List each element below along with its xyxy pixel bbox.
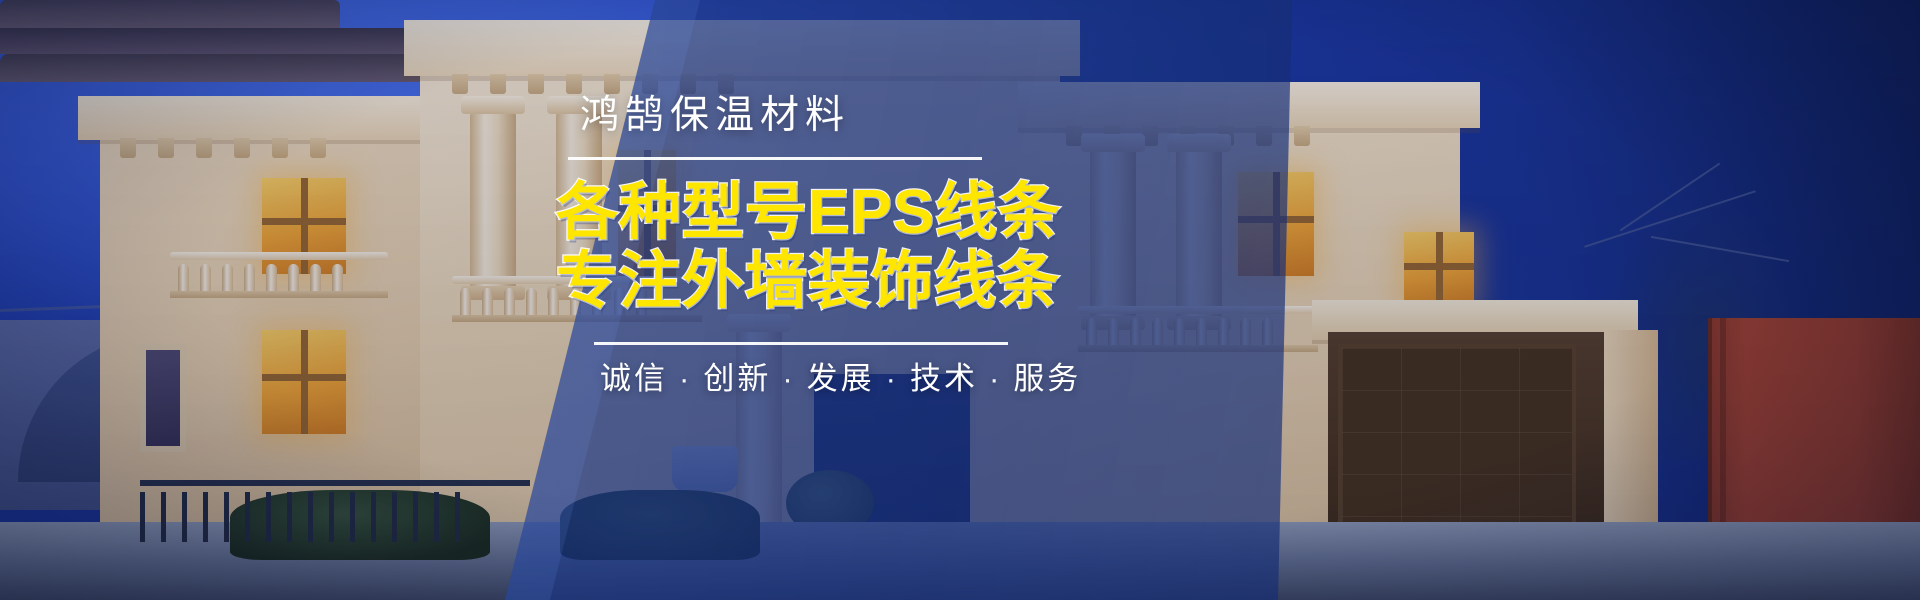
tagline-item: 技术 bbox=[910, 363, 978, 394]
tagline-separator: · bbox=[771, 363, 806, 394]
tagline-item: 发展 bbox=[807, 363, 875, 394]
headline-line-2: 专注外墙装饰线条 bbox=[556, 249, 1060, 316]
promo-banner: 鸿鹄保温材料 各种型号EPS线条 专注外墙装饰线条 诚信·创新·发展·技术·服务 bbox=[0, 0, 1920, 600]
tagline: 诚信·创新·发展·技术·服务 bbox=[600, 363, 1081, 394]
tagline-separator: · bbox=[668, 363, 703, 394]
headline-line-1: 各种型号EPS线条 bbox=[556, 180, 1061, 247]
tagline-separator: · bbox=[978, 363, 1013, 394]
divider-top bbox=[568, 157, 982, 160]
tagline-separator: · bbox=[875, 363, 910, 394]
banner-text-block: 鸿鹄保温材料 各种型号EPS线条 专注外墙装饰线条 诚信·创新·发展·技术·服务 bbox=[556, 96, 1316, 394]
tagline-item: 创新 bbox=[703, 363, 771, 394]
tagline-item: 服务 bbox=[1013, 363, 1081, 394]
tagline-item: 诚信 bbox=[600, 363, 668, 394]
brand-name: 鸿鹄保温材料 bbox=[580, 96, 850, 135]
divider-bottom bbox=[594, 342, 1008, 345]
